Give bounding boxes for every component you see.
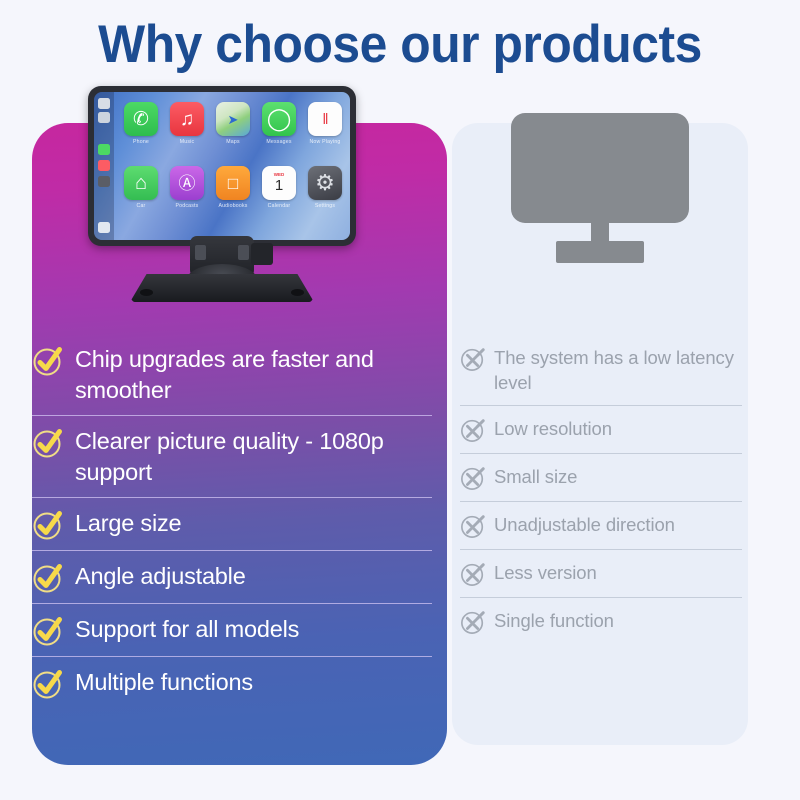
calendar-icon: WED 1 [262, 166, 296, 200]
app-label: Car [119, 203, 163, 209]
product-device-image: ✆ Phone ♫ Music ➤ Maps ◯ Messages ‖ [88, 86, 356, 301]
sidebar-music-icon [98, 160, 110, 171]
feature-item: Multiple functions [32, 656, 432, 709]
app-label: Messages [257, 139, 301, 145]
app-label: Music [165, 139, 209, 145]
now-playing-icon: ‖ [308, 102, 342, 136]
podcast-icon: Ⓐ [170, 166, 204, 200]
feature-label: Large size [64, 507, 181, 539]
page-title: Why choose our products [24, 14, 776, 75]
sidebar-status-icon [98, 98, 110, 109]
feature-item: Angle adjustable [32, 550, 432, 603]
other-product-drawback-list: The system has a low latency level Low r… [460, 335, 742, 645]
drawback-item: The system has a low latency level [460, 335, 742, 405]
feature-label: Clearer picture quality - 1080p support [64, 425, 432, 488]
device-screen: ✆ Phone ♫ Music ➤ Maps ◯ Messages ‖ [94, 92, 350, 240]
device-bezel: ✆ Phone ♫ Music ➤ Maps ◯ Messages ‖ [88, 86, 356, 246]
feature-item: Chip upgrades are faster and smoother [32, 334, 432, 415]
check-circle-icon [32, 345, 64, 377]
app-label: Now Playing [303, 139, 347, 145]
cross-circle-icon [460, 346, 486, 372]
cross-circle-icon [460, 513, 486, 539]
app-music[interactable]: ♫ Music [165, 102, 209, 166]
app-settings[interactable]: ⚙ Settings [303, 166, 347, 230]
feature-label: Support for all models [64, 613, 299, 645]
check-circle-icon [32, 562, 64, 594]
drawback-item: Less version [460, 549, 742, 597]
app-label: Podcasts [165, 203, 209, 209]
book-icon: □ [216, 166, 250, 200]
drawback-item: Small size [460, 453, 742, 501]
cross-circle-icon [460, 417, 486, 443]
monitor-neck [591, 223, 609, 243]
carplay-app-grid: ✆ Phone ♫ Music ➤ Maps ◯ Messages ‖ [118, 102, 348, 230]
sidebar-dock-icon [98, 222, 110, 233]
app-label: Phone [119, 139, 163, 145]
cross-circle-icon [460, 609, 486, 635]
monitor-icon [511, 113, 689, 263]
drawback-item: Low resolution [460, 405, 742, 453]
check-circle-icon [32, 615, 64, 647]
calendar-day: 1 [275, 178, 283, 193]
app-now-playing[interactable]: ‖ Now Playing [303, 102, 347, 166]
monitor-foot [556, 241, 644, 263]
drawback-label: Unadjustable direction [486, 512, 675, 538]
device-base-hole [140, 289, 153, 296]
device-stand-tab [251, 243, 273, 265]
message-icon: ◯ [262, 102, 296, 136]
sidebar-phone-icon [98, 144, 110, 155]
phone-icon: ✆ [124, 102, 158, 136]
gear-icon: ⚙ [308, 166, 342, 200]
app-messages[interactable]: ◯ Messages [257, 102, 301, 166]
app-audiobooks[interactable]: □ Audiobooks [211, 166, 255, 230]
feature-label: Chip upgrades are faster and smoother [64, 343, 432, 406]
drawback-label: Less version [486, 560, 597, 586]
sidebar-signal-icon [98, 112, 110, 123]
monitor-screen [511, 113, 689, 223]
app-label: Calendar [257, 203, 301, 209]
check-circle-icon [32, 509, 64, 541]
check-circle-icon [32, 427, 64, 459]
feature-item: Support for all models [32, 603, 432, 656]
cross-circle-icon [460, 465, 486, 491]
drawback-label: Single function [486, 608, 614, 634]
music-note-icon: ♫ [170, 102, 204, 136]
app-podcasts[interactable]: Ⓐ Podcasts [165, 166, 209, 230]
carplay-sidebar [94, 92, 114, 240]
feature-item: Clearer picture quality - 1080p support [32, 415, 432, 497]
device-base-hole [291, 289, 304, 296]
maps-icon: ➤ [216, 102, 250, 136]
drawback-item: Single function [460, 597, 742, 645]
app-calendar[interactable]: WED 1 Calendar [257, 166, 301, 230]
feature-label: Multiple functions [64, 666, 253, 698]
feature-label: Angle adjustable [64, 560, 246, 592]
drawback-label: The system has a low latency level [486, 345, 742, 395]
home-icon: ⌂ [124, 166, 158, 200]
check-circle-icon [32, 668, 64, 700]
cross-circle-icon [460, 561, 486, 587]
app-car[interactable]: ⌂ Car [119, 166, 163, 230]
drawback-label: Low resolution [486, 416, 612, 442]
drawback-label: Small size [486, 464, 577, 490]
app-maps[interactable]: ➤ Maps [211, 102, 255, 166]
feature-item: Large size [32, 497, 432, 550]
app-phone[interactable]: ✆ Phone [119, 102, 163, 166]
device-stand-base [130, 274, 314, 302]
app-label: Maps [211, 139, 255, 145]
app-label: Audiobooks [211, 203, 255, 209]
sidebar-settings-icon [98, 176, 110, 187]
drawback-item: Unadjustable direction [460, 501, 742, 549]
app-label: Settings [303, 203, 347, 209]
our-product-feature-list: Chip upgrades are faster and smoother Cl… [32, 334, 432, 709]
